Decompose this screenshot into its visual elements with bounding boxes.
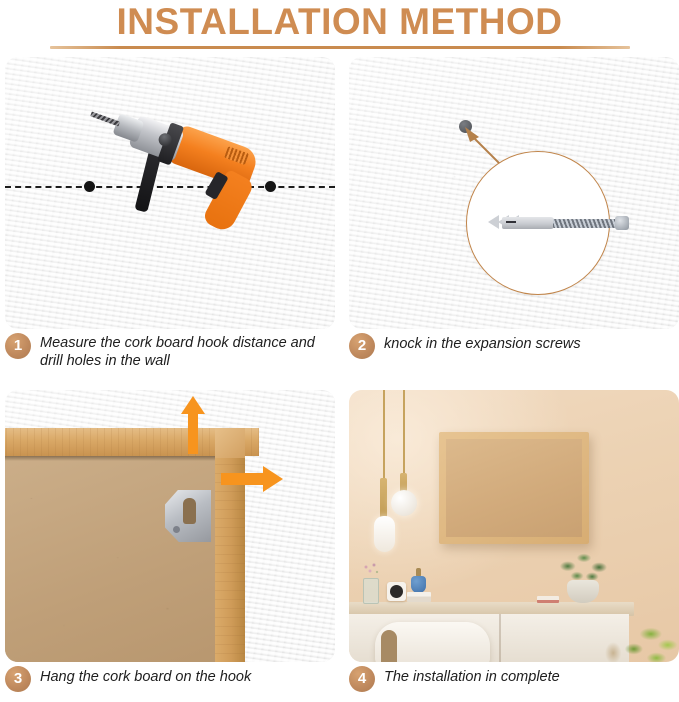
step-4-caption: 4 The installation in complete	[349, 666, 679, 692]
step-2-caption: 2 knock in the expansion screws	[349, 333, 679, 359]
screw-thread	[553, 219, 617, 228]
anchor-body	[502, 217, 554, 229]
pendant-stem	[380, 478, 387, 518]
step-2-cell	[349, 57, 679, 329]
stacked-books	[407, 592, 431, 602]
cork-inner-shadow	[5, 456, 215, 461]
cork-board-corner	[5, 428, 259, 662]
mounted-cork-surface	[446, 439, 582, 537]
step-3-cell	[5, 390, 335, 662]
step-2-badge: 2	[349, 333, 375, 359]
step-2-caption-text: knock in the expansion screws	[384, 333, 581, 353]
wood-frame-right-rail	[215, 428, 245, 662]
console-drawer-seam	[499, 614, 501, 662]
wood-frame-miter-corner	[215, 428, 245, 458]
chair-shadow-gap	[381, 630, 397, 662]
page-title: INSTALLATION METHOD	[0, 2, 679, 42]
step-1-badge: 1	[5, 333, 31, 359]
step-2-image	[349, 57, 679, 329]
anchor-slot	[506, 221, 516, 223]
pendant-cylinder-lamp	[374, 516, 395, 552]
small-book	[537, 596, 559, 603]
plant-pot	[567, 580, 599, 603]
step-1-cell	[5, 57, 335, 329]
blue-vase	[411, 576, 426, 593]
step-3-caption: 3 Hang the cork board on the hook	[5, 666, 335, 692]
drill-grip	[201, 169, 255, 234]
right-arrow-icon	[221, 466, 283, 492]
step-4-cell	[349, 390, 679, 662]
mounted-cork-board	[439, 432, 589, 544]
step-3-caption-text: Hang the cork board on the hook	[40, 666, 251, 686]
pendant-cord	[403, 390, 405, 482]
plastic-wall-anchor	[484, 214, 556, 232]
title-underline-rule	[50, 46, 630, 49]
magnifier-circle	[466, 151, 610, 295]
step-1-image	[5, 57, 335, 329]
step-4-badge: 4	[349, 666, 375, 692]
pendant-cord	[383, 390, 385, 478]
step-1-caption: 1 Measure the cork board hook distance a…	[5, 333, 335, 370]
up-arrow-icon	[181, 396, 205, 454]
pendant-globe-lamp	[391, 490, 417, 516]
step-3-badge: 3	[5, 666, 31, 692]
cork-surface	[5, 456, 215, 662]
step-3-image	[5, 390, 335, 662]
screw-head	[615, 216, 629, 230]
step-4-caption-text: The installation in complete	[384, 666, 560, 686]
metal-screw	[553, 216, 629, 230]
step-1-caption-text: Measure the cork board hook distance and…	[40, 333, 332, 370]
step-4-image	[349, 390, 679, 662]
corner-floor-plant	[585, 614, 679, 662]
page-header: INSTALLATION METHOD	[0, 0, 679, 49]
steps-grid: 1 Measure the cork board hook distance a…	[0, 57, 679, 702]
bracket-screw-hole	[173, 526, 180, 533]
bracket-keyhole-slot	[183, 498, 196, 524]
wood-grain	[215, 428, 245, 662]
glass-flower-vase	[363, 578, 379, 604]
clock-face	[390, 585, 403, 598]
